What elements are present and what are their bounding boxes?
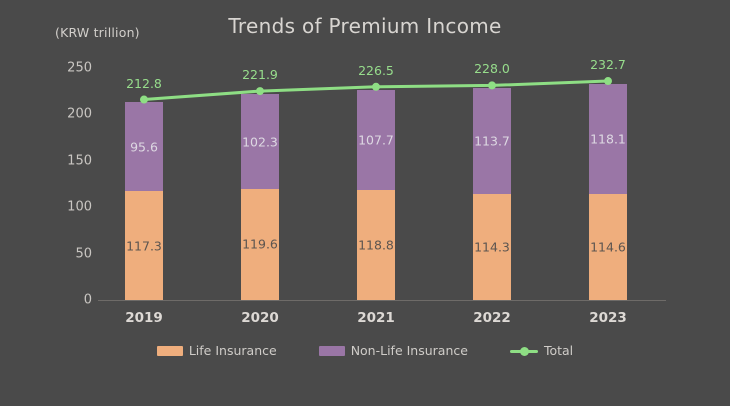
legend-swatch-icon-non-life [319,346,345,356]
total-marker-2020[interactable] [256,87,264,95]
chart-legend: Life Insurance Non-Life Insurance Total [0,343,730,358]
total-marker-2022[interactable] [488,81,496,89]
total-value-label-2020: 221.9 [220,67,300,82]
total-marker-2019[interactable] [140,96,148,104]
legend-item-total[interactable]: Total [510,343,573,358]
legend-label-life: Life Insurance [189,343,277,358]
chart-container: (KRW trillion) Trends of Premium Income … [0,0,730,406]
legend-line-marker-icon-total [510,346,538,356]
legend-item-non-life-insurance[interactable]: Non-Life Insurance [319,343,468,358]
legend-swatch-icon-life [157,346,183,356]
x-axis-tick-label-2022: 2022 [447,310,537,326]
total-value-label-2019: 212.8 [104,76,184,91]
total-marker-2023[interactable] [604,77,612,85]
legend-item-life-insurance[interactable]: Life Insurance [157,343,277,358]
x-axis-tick-label-2021: 2021 [331,310,421,326]
total-marker-2021[interactable] [372,83,380,91]
total-value-label-2022: 228.0 [452,61,532,76]
x-axis-tick-label-2023: 2023 [563,310,653,326]
x-axis-tick-label-2019: 2019 [99,310,189,326]
x-axis-tick-label-2020: 2020 [215,310,305,326]
legend-label-non-life: Non-Life Insurance [351,343,468,358]
total-value-label-2021: 226.5 [336,63,416,78]
legend-label-total: Total [544,343,573,358]
total-value-label-2023: 232.7 [568,57,648,72]
